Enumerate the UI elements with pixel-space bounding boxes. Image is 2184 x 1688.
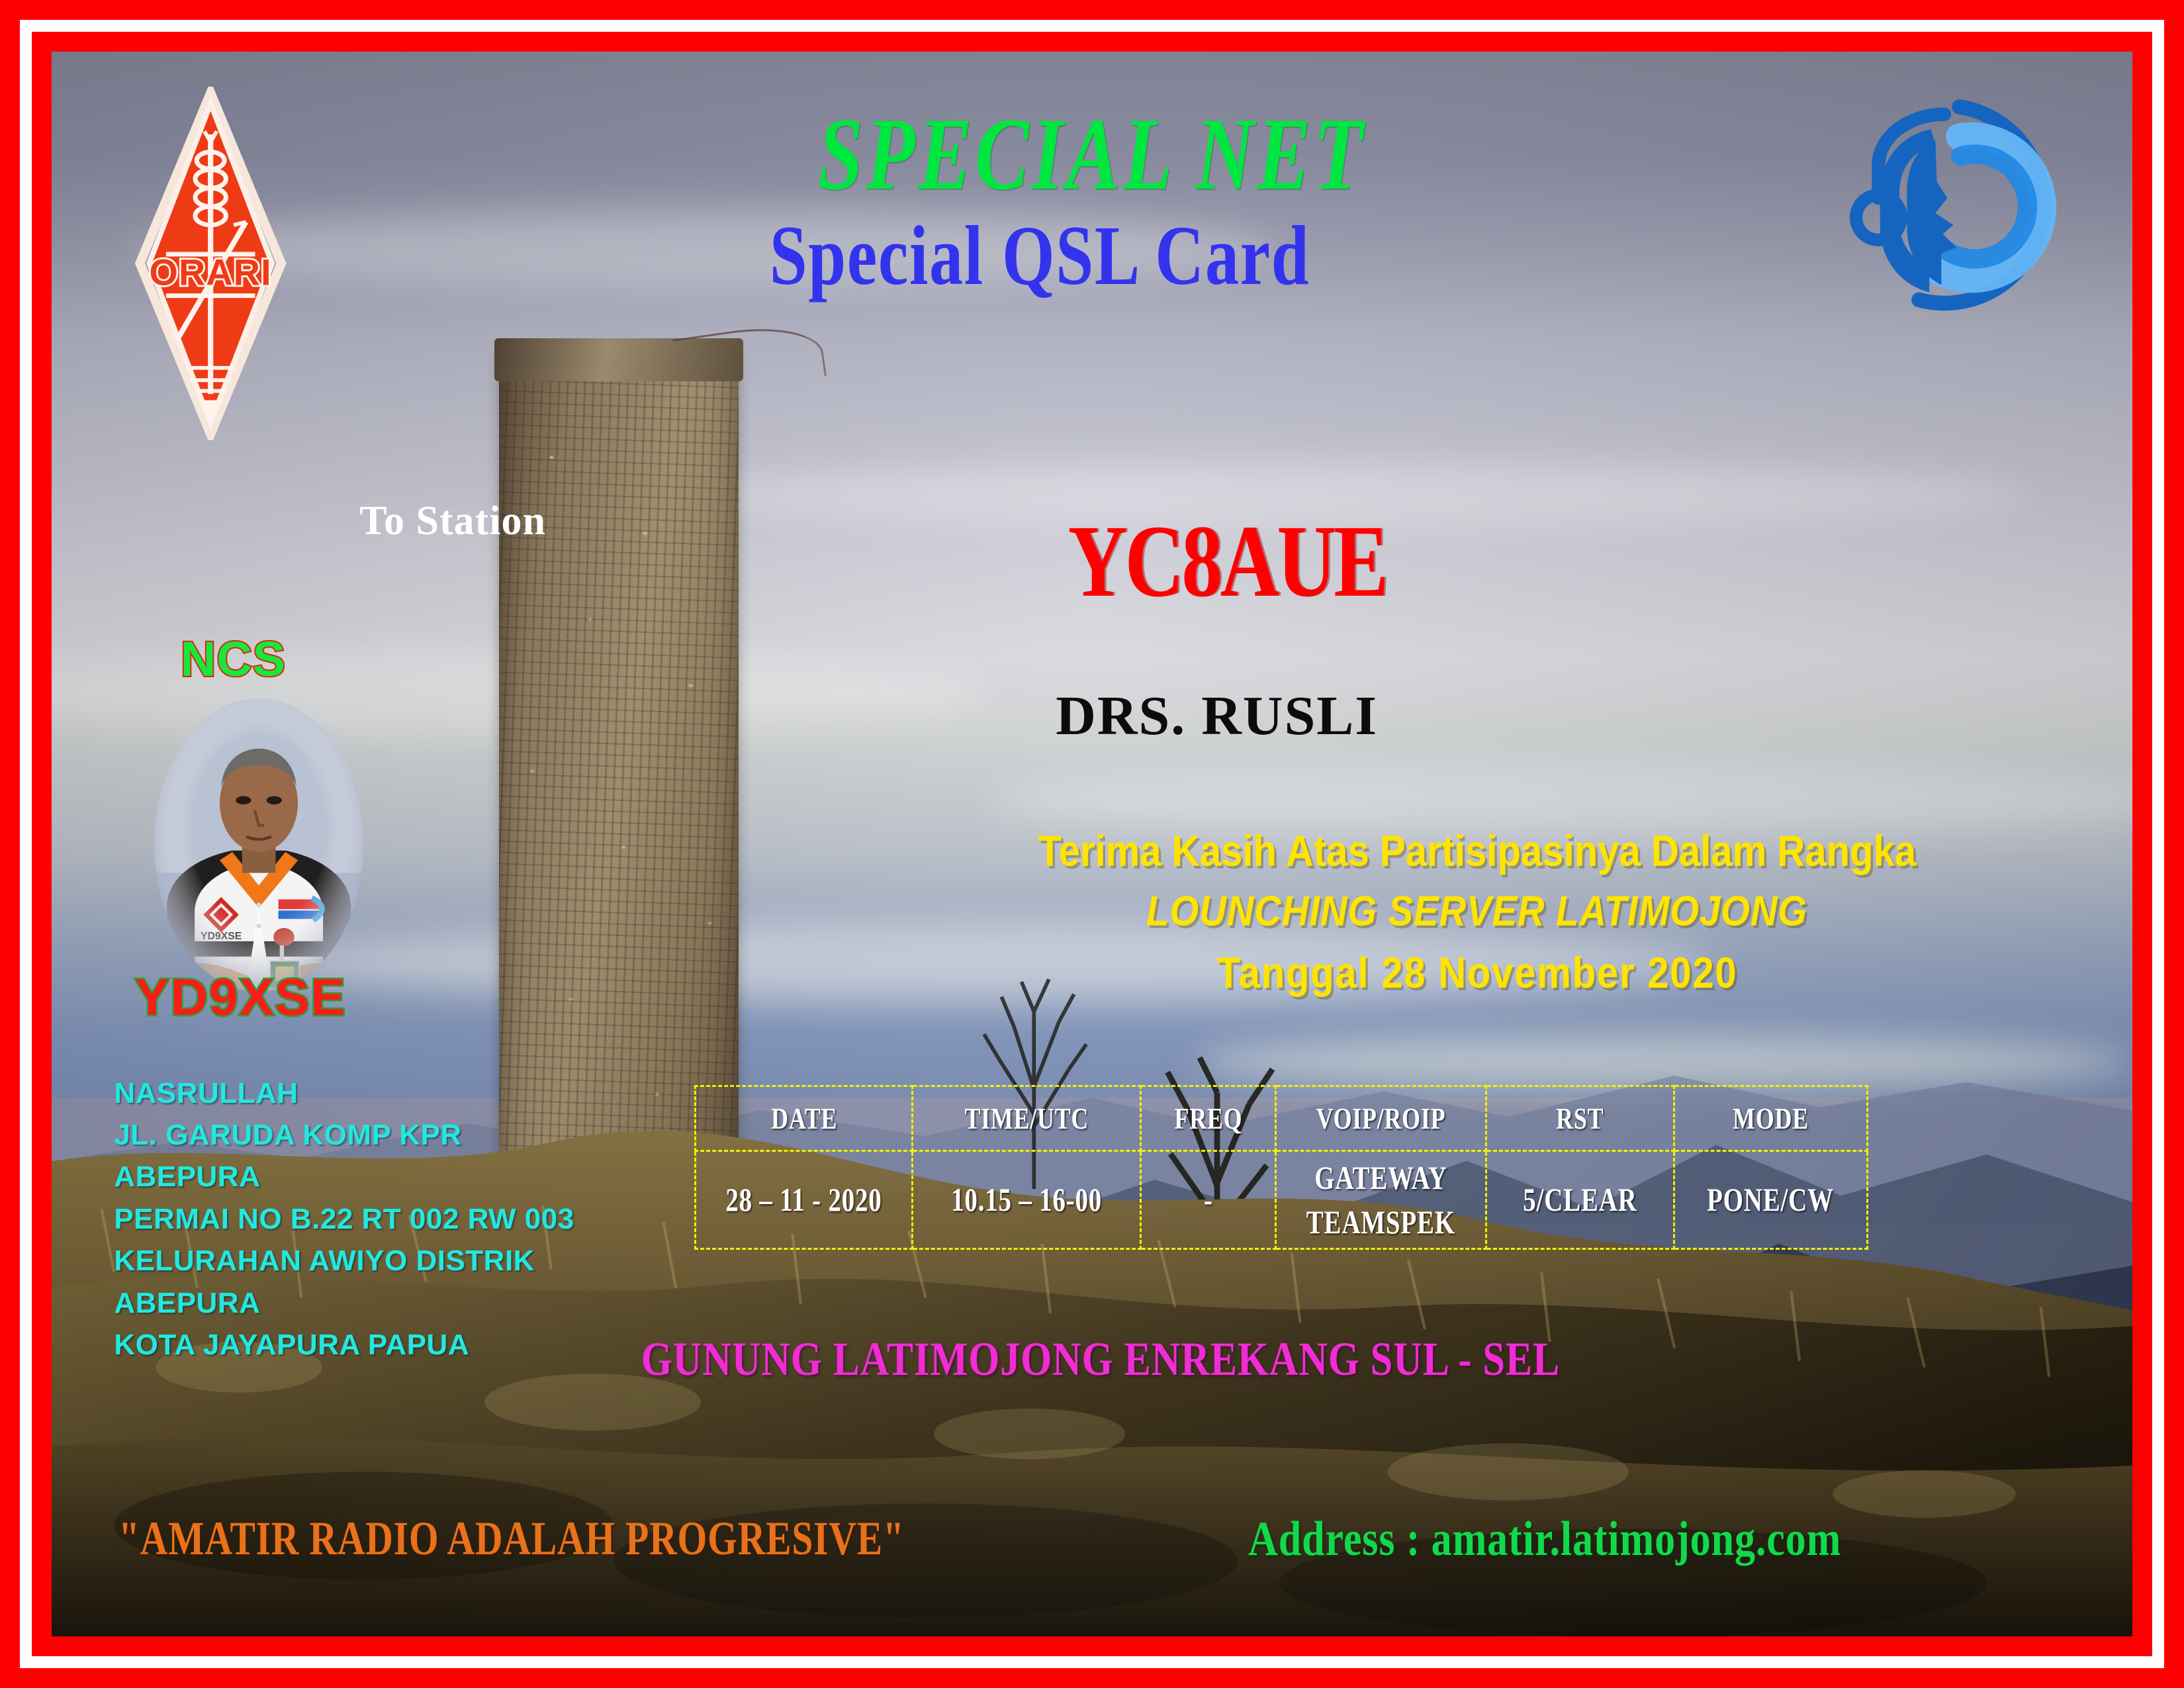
event-line-1: Terima Kasih Atas Partisipasinya Dalam R…: [936, 828, 2018, 874]
card-photo-area: ORARI: [52, 52, 2132, 1636]
header-date: DATE: [696, 1086, 912, 1150]
qsl-card: ORARI: [0, 0, 2184, 1688]
page-subtitle: Special QSL Card: [702, 213, 1378, 298]
qso-table: DATE TIME/UTC FREQ VOIP/ROIP RST MODE 28…: [694, 1085, 1868, 1250]
to-station-label: To Station: [359, 500, 546, 541]
cell-rst: 5/CLEAR: [1486, 1151, 1674, 1249]
address-line: ABEPURA: [114, 1156, 574, 1197]
header-freq: FREQ: [1141, 1086, 1276, 1150]
event-text-block: Terima Kasih Atas Partisipasinya Dalam R…: [936, 828, 2018, 996]
ncs-label: NCS: [181, 635, 286, 684]
operator-name: DRS. RUSLI: [1056, 688, 1378, 744]
cell-freq: -: [1141, 1151, 1276, 1249]
address-line: JL. GARUDA KOMP KPR: [114, 1114, 574, 1156]
header-voip-roip: VOIP/ROIP: [1275, 1086, 1486, 1150]
address-line: PERMAI NO B.22 RT 002 RW 003: [114, 1198, 574, 1240]
header-time: TIME/UTC: [912, 1086, 1140, 1150]
event-line-2: LOUNCHING SERVER LATIMOJONG: [936, 889, 2018, 934]
address-line: KELURAHAN AWIYO DISTRIK: [114, 1240, 574, 1282]
cell-voip-roip: GATEWAY TEAMSPEK: [1275, 1151, 1486, 1249]
footer-address: Address : amatir.latimojong.com: [1248, 1515, 1954, 1564]
header-mode: MODE: [1674, 1086, 1867, 1150]
table-header-row: DATE TIME/UTC FREQ VOIP/ROIP RST MODE: [696, 1086, 1867, 1150]
ncs-callsign: YD9XSE: [135, 971, 347, 1023]
station-callsign: YC8AUE: [1058, 518, 1396, 605]
address-line: NASRULLAH: [114, 1072, 574, 1114]
page-title: SPECIAL NET: [741, 103, 1443, 206]
address-block: NASRULLAH JL. GARUDA KOMP KPR ABEPURA PE…: [114, 1072, 574, 1366]
cell-mode: PONE/CW: [1674, 1151, 1867, 1249]
address-line: KOTA JAYAPURA PAPUA: [114, 1324, 574, 1366]
cell-time: 10.15 – 16-00: [912, 1151, 1140, 1249]
table-row: 28 – 11 - 2020 10.15 – 16-00 - GATEWAY T…: [696, 1151, 1867, 1249]
header-rst: RST: [1486, 1086, 1674, 1150]
event-line-3: Tanggal 28 November 2020: [936, 950, 2018, 996]
text-layer: SPECIAL NET Special QSL Card To Station …: [52, 52, 2132, 1636]
address-line: ABEPURA: [114, 1282, 574, 1324]
location-text: GUNUNG LATIMOJONG ENREKANG SUL - SEL: [553, 1335, 1647, 1383]
cell-date: 28 – 11 - 2020: [696, 1151, 912, 1249]
footer-motto: "AMATIR RADIO ADALAH PROGRESIVE": [118, 1515, 1101, 1562]
